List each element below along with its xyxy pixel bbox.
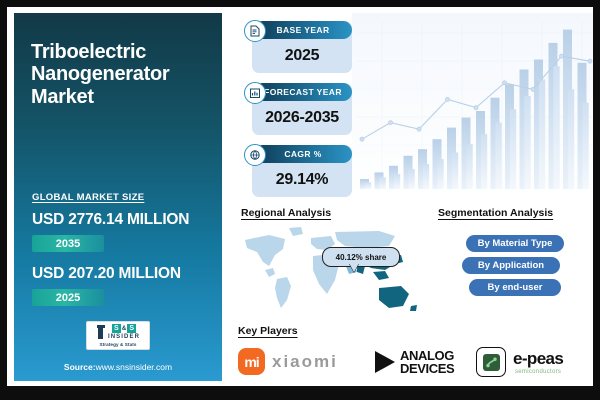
world-map-svg [239, 222, 424, 317]
regional-share-callout: 40.12% share [322, 247, 400, 267]
globe-growth-icon [244, 144, 266, 166]
stat-cagr-label: CAGR % [254, 145, 352, 163]
logo-tagline: Strategy & Stats [99, 342, 136, 347]
regional-analysis-heading: Regional Analysis [241, 207, 331, 219]
stat-base-year-label: BASE YEAR [254, 21, 352, 39]
page-title: Triboelectric Nanogenerator Market [31, 41, 216, 108]
logo-insider-text: INSIDER [108, 334, 140, 340]
xiaomi-mi-icon: mi [238, 348, 265, 375]
xiaomi-wordmark: xiaomi [272, 352, 338, 372]
market-size-value-2025: USD 207.20 MILLION [32, 265, 181, 283]
market-size-value-2035: USD 2776.14 MILLION [32, 211, 189, 229]
logo-row: S & S INSIDER [96, 324, 140, 340]
logo-sns-top: S & S [112, 324, 136, 333]
analog-devices-line2: DEVICES [400, 362, 454, 375]
left-summary-panel: Triboelectric Nanogenerator Market GLOBA… [14, 13, 222, 381]
stat-base-year-value: 2025 [252, 39, 352, 73]
global-market-size-label: GLOBAL MARKET SIZE [32, 192, 144, 203]
epeas-subtitle: semiconductors [515, 369, 561, 375]
logo-mark-s1: S [112, 324, 121, 333]
source-prefix: Source: [64, 362, 96, 372]
segment-by-end-user[interactable]: By end-user [469, 279, 561, 296]
market-size-year-2035: 2035 [32, 235, 104, 252]
segment-by-material-type[interactable]: By Material Type [466, 235, 564, 252]
market-growth-chart [352, 13, 593, 198]
world-map: 40.12% share [239, 222, 424, 317]
stat-cagr-value: 29.14% [252, 163, 352, 197]
segment-by-application[interactable]: By Application [462, 257, 560, 274]
infographic-canvas: Triboelectric Nanogenerator Market GLOBA… [7, 7, 593, 386]
logo-mark-s2: S [127, 324, 136, 333]
key-players-heading: Key Players [238, 325, 298, 337]
analog-devices-wordmark: ANALOG DEVICES [400, 349, 454, 376]
source-url: www.snsinsider.com [96, 362, 173, 372]
report-document-icon [244, 20, 266, 42]
epeas-wordmark: e-peas [513, 349, 563, 369]
stat-forecast-year-value: 2026-2035 [252, 101, 352, 135]
analog-devices-triangle-icon [375, 351, 395, 373]
logo-ampersand: & [122, 326, 126, 332]
segmentation-analysis-heading: Segmentation Analysis [438, 207, 553, 219]
chess-rook-icon [96, 325, 106, 339]
key-players-logos: mi xiaomi ANALOG DEVICES e-peas semicond… [238, 343, 593, 383]
logo-sns-block: S & S INSIDER [108, 324, 140, 340]
bar-chart-calendar-icon [244, 82, 266, 104]
source-line: Source:www.snsinsider.com [14, 362, 222, 372]
stat-forecast-year-label: FORECAST YEAR [254, 83, 352, 101]
analog-devices-line1: ANALOG [400, 349, 454, 362]
chart-svg [352, 13, 593, 198]
sns-insider-logo: S & S INSIDER Strategy & Stats [86, 321, 150, 350]
epeas-badge-icon [476, 347, 506, 377]
market-size-year-2025: 2025 [32, 289, 104, 306]
